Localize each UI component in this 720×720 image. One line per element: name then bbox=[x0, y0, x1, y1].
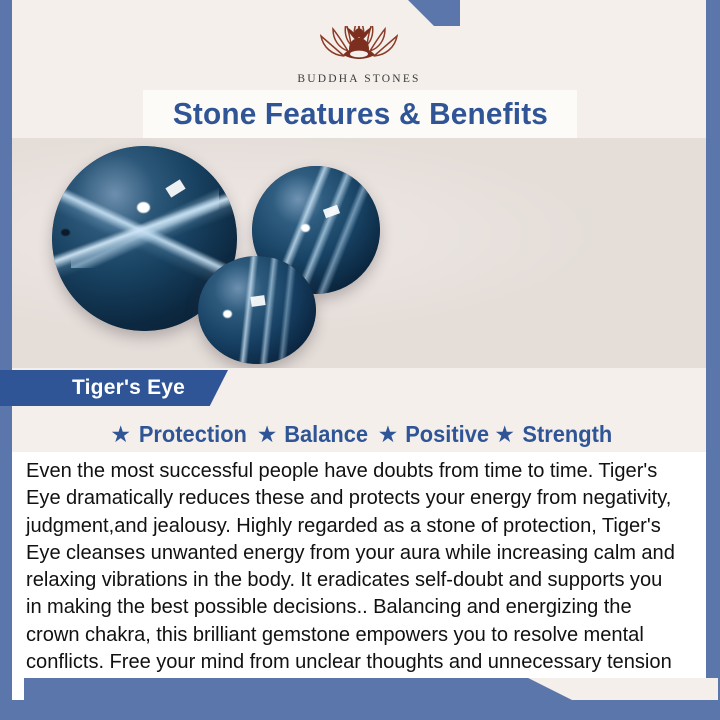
benefit-label: Positive bbox=[405, 421, 489, 448]
bottom-accent-bar bbox=[24, 678, 572, 700]
brand-logo: BUDDHA STONES bbox=[12, 14, 706, 94]
description-panel: Even the most successful people have dou… bbox=[12, 452, 706, 700]
stone-feature-poster: BUDDHA STONES Stone Features & Benefits bbox=[0, 0, 720, 720]
star-icon: ★ bbox=[378, 423, 399, 446]
benefit-item-protection: ★ Protection bbox=[103, 421, 249, 448]
benefits-row: ★ Protection ★ Balance ★ Positive ★ Stre… bbox=[12, 414, 706, 454]
benefit-label: Strength bbox=[522, 421, 612, 448]
poster-page: BUDDHA STONES Stone Features & Benefits bbox=[12, 0, 706, 700]
title-bar: Stone Features & Benefits bbox=[143, 90, 577, 138]
star-icon: ★ bbox=[494, 423, 515, 446]
benefit-label: Protection bbox=[139, 421, 247, 448]
benefit-item-strength: ★ Strength bbox=[487, 421, 614, 448]
stone-name-ribbon: Tiger's Eye bbox=[0, 370, 228, 406]
top-left-cream-cut bbox=[12, 0, 408, 26]
page-title: Stone Features & Benefits bbox=[172, 96, 547, 132]
bottom-frame-band bbox=[24, 678, 718, 700]
stone-photo bbox=[12, 138, 706, 368]
left-frame-rail bbox=[0, 0, 12, 720]
description-text: Even the most successful people have dou… bbox=[26, 458, 682, 704]
stone-name-label: Tiger's Eye bbox=[72, 376, 185, 400]
benefit-item-positive: ★ Positive bbox=[371, 421, 492, 448]
star-icon: ★ bbox=[257, 423, 278, 446]
brand-name: BUDDHA STONES bbox=[297, 73, 420, 85]
star-icon: ★ bbox=[110, 423, 131, 446]
benefit-label: Balance bbox=[285, 421, 369, 448]
right-frame-rail bbox=[706, 0, 720, 720]
benefit-item-balance: ★ Balance bbox=[250, 421, 371, 448]
small-sphere bbox=[198, 256, 316, 364]
